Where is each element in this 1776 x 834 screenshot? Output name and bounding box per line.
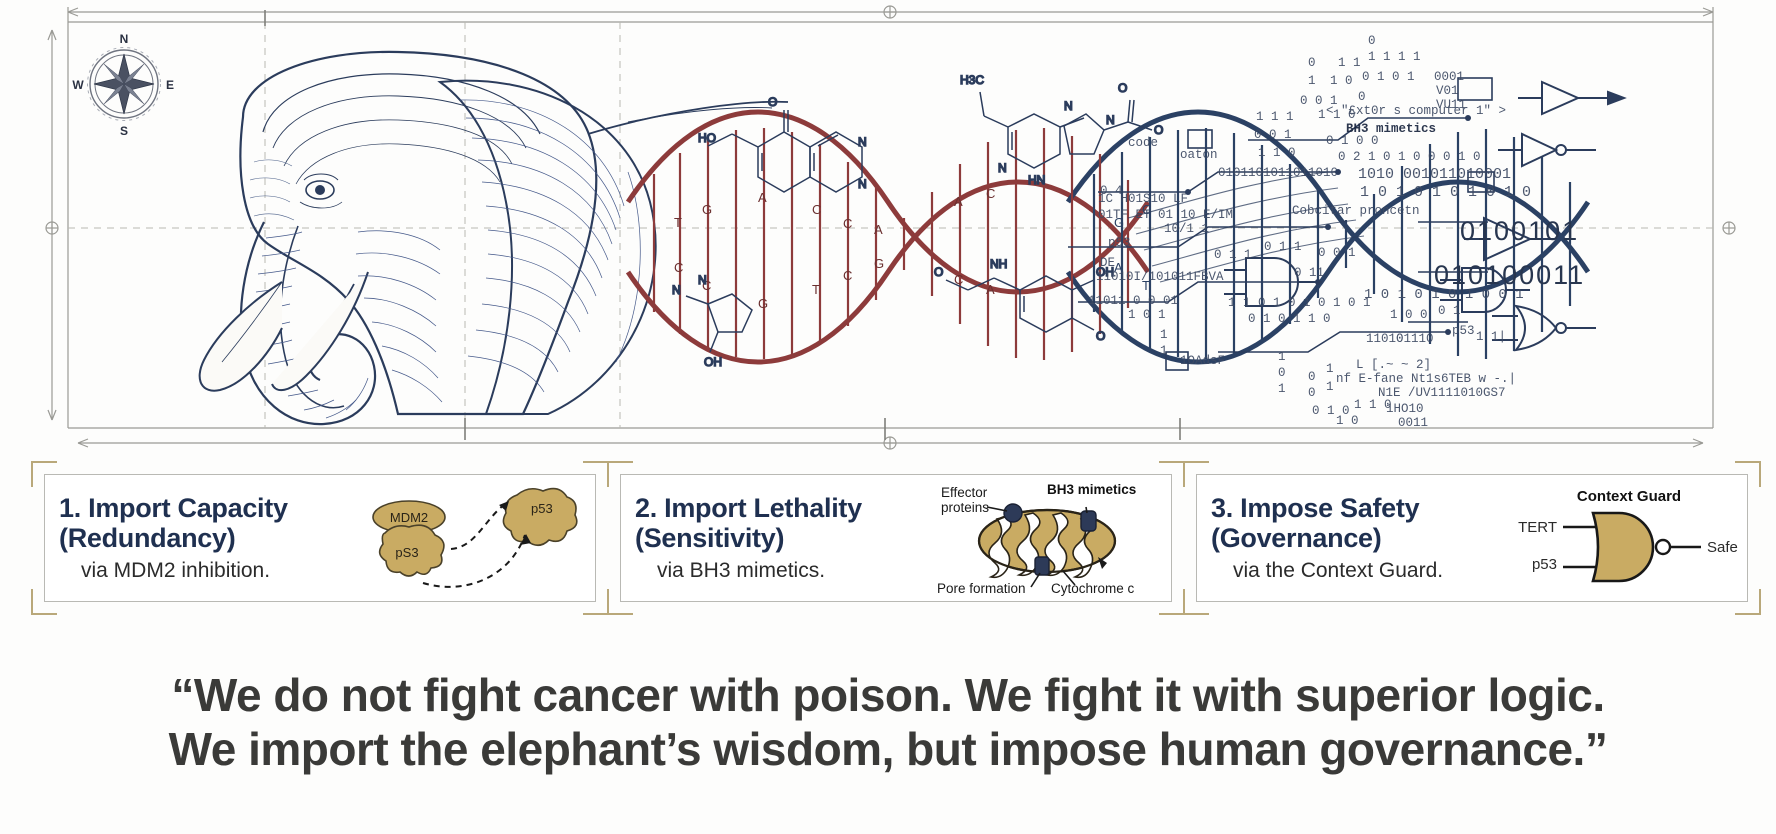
svg-text:O: O bbox=[1118, 81, 1127, 95]
svg-text:C: C bbox=[986, 186, 995, 201]
compass-east: E bbox=[166, 78, 174, 92]
svg-text:A: A bbox=[758, 190, 767, 205]
chemical-structure-center: H3C O O N N N HN bbox=[960, 73, 1163, 187]
svg-text:1010 001011010001: 1010 001011010001 bbox=[1358, 166, 1511, 183]
card-corner-tl bbox=[607, 461, 633, 487]
compass-rose: N S E W bbox=[72, 32, 174, 138]
svg-text:nf E-fane Nt1s6TEB w -.|: nf E-fane Nt1s6TEB w -.| bbox=[1336, 372, 1516, 386]
svg-text:0: 0 bbox=[1308, 56, 1316, 70]
logic-gate-nor bbox=[1492, 306, 1596, 350]
bh3-protein-block bbox=[1081, 511, 1096, 531]
svg-text:1: 1 bbox=[1308, 74, 1316, 88]
svg-text:O: O bbox=[768, 95, 777, 109]
svg-text:0011: 0011 bbox=[1398, 416, 1428, 428]
svg-text:0 1 0 0: 0 1 0 0 bbox=[1326, 134, 1379, 148]
svg-text:1: 1 bbox=[1326, 380, 1334, 394]
svg-text:G: G bbox=[758, 296, 768, 311]
svg-text:N: N bbox=[1106, 113, 1115, 127]
p53-label: p53 bbox=[531, 501, 553, 516]
svg-text:0 0 1: 0 0 1 bbox=[1318, 246, 1356, 260]
svg-text:0101101011011010: 0101101011011010 bbox=[1218, 166, 1338, 180]
bh3-mimetics-label: BH3 mimetics bbox=[1047, 482, 1136, 497]
svg-text:1 1 0: 1 1 0 bbox=[1258, 146, 1296, 160]
svg-text:L [.~ ~ 2]: L [.~ ~ 2] bbox=[1356, 358, 1431, 372]
card-3-text: 3. Impose Safety (Governance) via the Co… bbox=[1211, 493, 1511, 584]
logic-gate-not bbox=[1498, 134, 1596, 166]
nand-gate-shape bbox=[1563, 513, 1701, 581]
card-2-title: 2. Import Lethality (Sensitivity) bbox=[635, 493, 935, 553]
elephant-eye bbox=[300, 174, 342, 208]
svg-text:oaton: oaton bbox=[1180, 148, 1218, 162]
svg-text:0: 0 bbox=[1368, 34, 1376, 48]
svg-text:N: N bbox=[1064, 99, 1073, 113]
svg-text:A: A bbox=[954, 194, 963, 209]
svg-text:1: 1 bbox=[1160, 328, 1168, 342]
ps3-protein-blob: pS3 bbox=[380, 525, 444, 576]
card-2-figure: Effector proteins BH3 mimetics Pore form… bbox=[935, 479, 1165, 597]
effector-label-line1: Effector bbox=[941, 485, 988, 500]
card-1-text: 1. Import Capacity (Redundancy) via MDM2… bbox=[59, 493, 359, 584]
svg-text:0: 0 bbox=[1358, 90, 1366, 104]
pore-formation-label: Pore formation bbox=[937, 581, 1026, 596]
logic-gate-buffer-2 bbox=[1518, 82, 1624, 114]
svg-text:HN: HN bbox=[1028, 173, 1045, 187]
svg-text:01TF ET 01 10 E/IM: 01TF ET 01 10 E/IM bbox=[1098, 208, 1233, 222]
svg-text:N: N bbox=[858, 177, 867, 191]
blueprint-artwork: N S E W bbox=[68, 22, 1713, 428]
card-import-capacity[interactable]: 1. Import Capacity (Redundancy) via MDM2… bbox=[44, 474, 596, 602]
svg-text:1: 1 bbox=[1160, 344, 1168, 358]
svg-text:1: 1 bbox=[1326, 362, 1334, 376]
svg-text:DE: DE bbox=[1100, 256, 1115, 270]
svg-text:0 1 1: 0 1 1 bbox=[1214, 248, 1252, 262]
card-3-subtitle: via the Context Guard. bbox=[1211, 558, 1511, 583]
svg-text:N: N bbox=[698, 273, 707, 287]
gate-input-tert-label: TERT bbox=[1518, 519, 1557, 536]
svg-text:0 11: 0 11 bbox=[1294, 266, 1324, 280]
svg-text:1 1: 1 1 bbox=[1338, 56, 1361, 70]
svg-text:1OAdsF: 1OAdsF bbox=[1180, 354, 1225, 368]
svg-text:Cobcitar proncetn: Cobcitar proncetn bbox=[1292, 204, 1420, 218]
svg-text:0 1 0 1 1 0: 0 1 0 1 1 0 bbox=[1248, 312, 1331, 326]
svg-text:1 0 0: 1 0 0 bbox=[1390, 308, 1428, 322]
gate-input-p53-label: p53 bbox=[1532, 556, 1557, 573]
svg-text:C: C bbox=[674, 260, 683, 275]
quote-line-2: We import the elephant’s wisdom, but imp… bbox=[169, 723, 1608, 777]
chemical-structure-left: O HO N N bbox=[698, 95, 867, 192]
svg-text:G: G bbox=[874, 256, 884, 271]
svg-text:0 1 1: 0 1 1 bbox=[1264, 240, 1302, 254]
card-1-subtitle: via MDM2 inhibition. bbox=[59, 558, 359, 583]
svg-text:0 1: 0 1 bbox=[1438, 304, 1461, 318]
svg-text:V01: V01 bbox=[1436, 84, 1459, 98]
svg-text:A: A bbox=[986, 282, 995, 297]
card-1-figure: p53 MDM2 pS3 bbox=[359, 479, 589, 597]
svg-text:1 1 1 1: 1 1 1 1 bbox=[1368, 50, 1421, 64]
svg-text:0001: 0001 bbox=[1434, 70, 1464, 84]
quote-line-1: “We do not fight cancer with poison. We … bbox=[171, 669, 1604, 723]
svg-text:N1E /UV1111010GS7: N1E /UV1111010GS7 bbox=[1378, 386, 1506, 400]
svg-text:1 0 1: 1 0 1 bbox=[1128, 308, 1166, 322]
card-2-subtitle: via BH3 mimetics. bbox=[635, 558, 935, 583]
svg-text:code: code bbox=[1128, 136, 1158, 150]
compass-north: N bbox=[120, 32, 129, 46]
ps3-label: pS3 bbox=[395, 545, 418, 560]
concept-cards-row: 1. Import Capacity (Redundancy) via MDM2… bbox=[0, 462, 1776, 612]
svg-text:N: N bbox=[672, 283, 681, 297]
compass-west: W bbox=[72, 78, 84, 92]
compass-south: S bbox=[120, 124, 128, 138]
card-impose-safety[interactable]: 3. Impose Safety (Governance) via the Co… bbox=[1196, 474, 1748, 602]
card-2-text: 2. Import Lethality (Sensitivity) via BH… bbox=[635, 493, 935, 584]
chemical-structure-right: O OH O NH N N OH bbox=[672, 257, 1114, 369]
effector-label-line2: proteins bbox=[941, 500, 989, 515]
svg-text:N: N bbox=[998, 161, 1007, 175]
svg-text:T: T bbox=[812, 282, 820, 297]
svg-text:H3C: H3C bbox=[960, 73, 984, 87]
nand-inversion-bubble bbox=[1656, 540, 1670, 554]
svg-text:0 2 1 0 1 0 0 0 1 0: 0 2 1 0 1 0 0 0 1 0 bbox=[1338, 150, 1481, 164]
svg-text:p53: p53 bbox=[1108, 236, 1131, 250]
gate-output-safe-label: Safe bbox=[1707, 539, 1738, 556]
svg-text:0: 0 bbox=[1308, 386, 1316, 400]
svg-text:C: C bbox=[843, 216, 852, 231]
card-corner-tl bbox=[1183, 461, 1209, 487]
svg-text:10/1 1: 10/1 1 bbox=[1164, 222, 1209, 236]
svg-text:< "£xt0r s computer 1" >: < "£xt0r s computer 1" > bbox=[1326, 104, 1506, 118]
svg-text:0: 0 bbox=[1396, 332, 1404, 346]
context-guard-title: Context Guard bbox=[1577, 488, 1681, 505]
svg-text:0: 0 bbox=[1308, 370, 1316, 384]
svg-text:C: C bbox=[812, 202, 821, 217]
cytochrome-c-label: Cytochrome c bbox=[1051, 581, 1135, 596]
binary-readout-2: 010100011 bbox=[1434, 260, 1585, 290]
pore-protein-block bbox=[1035, 557, 1049, 575]
card-3-figure: Context Guard TERT p53 Safe bbox=[1511, 479, 1741, 597]
effector-protein-dot bbox=[1004, 504, 1022, 522]
svg-text:1: 1 bbox=[1278, 382, 1286, 396]
svg-text:1 1 0 1 0 1 0 1 0 1: 1 1 0 1 0 1 0 1 0 1 bbox=[1228, 296, 1371, 310]
svg-text:p53: p53 bbox=[1452, 324, 1475, 338]
svg-text:1 0 1 0 1 0 1 0 1 0: 1 0 1 0 1 0 1 0 1 0 bbox=[1360, 184, 1531, 201]
svg-text:BH3 mimetics: BH3 mimetics bbox=[1346, 122, 1436, 136]
svg-text:A: A bbox=[874, 222, 883, 237]
svg-text:1C H01S10 LF: 1C H01S10 LF bbox=[1098, 192, 1188, 206]
svg-text:0 1 0 1: 0 1 0 1 bbox=[1362, 70, 1415, 84]
svg-text:0: 0 bbox=[1278, 366, 1286, 380]
svg-text:O: O bbox=[934, 265, 943, 279]
svg-text:1 1 1: 1 1 1 bbox=[1256, 110, 1294, 124]
svg-text:1HO10: 1HO10 bbox=[1386, 402, 1424, 416]
card-import-lethality[interactable]: 2. Import Lethality (Sensitivity) via BH… bbox=[620, 474, 1172, 602]
svg-text:O: O bbox=[1154, 123, 1163, 137]
svg-text:11010I/101011FBVA: 11010I/101011FBVA bbox=[1096, 270, 1224, 284]
binary-readout-1: 0100101 bbox=[1460, 216, 1579, 246]
svg-text:1 1|: 1 1| bbox=[1476, 330, 1506, 344]
svg-text:0 0 1: 0 0 1 bbox=[1254, 128, 1292, 142]
svg-text:OH: OH bbox=[704, 355, 722, 369]
svg-text:G: G bbox=[702, 202, 712, 217]
svg-text:1 1 0: 1 1 0 bbox=[1354, 398, 1392, 412]
svg-text:O: O bbox=[1096, 329, 1105, 343]
svg-text:1 0: 1 0 bbox=[1330, 74, 1353, 88]
mdm2-label: MDM2 bbox=[390, 510, 428, 525]
svg-text:N: N bbox=[858, 135, 867, 149]
elephant-illustration bbox=[200, 52, 788, 424]
svg-text:1 0: 1 0 bbox=[1336, 414, 1359, 428]
card-corner-tl bbox=[31, 461, 57, 487]
p53-protein-blob: p53 bbox=[503, 489, 576, 546]
card-3-title: 3. Impose Safety (Governance) bbox=[1211, 493, 1511, 553]
svg-text:NH: NH bbox=[990, 257, 1007, 271]
poster-root: N S E W bbox=[0, 0, 1776, 834]
svg-text:11011 0 0 01: 11011 0 0 01 bbox=[1088, 294, 1178, 308]
card-1-title: 1. Import Capacity (Redundancy) bbox=[59, 493, 359, 553]
blueprint-panel: N S E W bbox=[0, 0, 1776, 462]
svg-text:C: C bbox=[843, 268, 852, 283]
svg-text:1: 1 bbox=[1278, 350, 1286, 364]
svg-text:T: T bbox=[674, 215, 682, 230]
closing-quote: “We do not fight cancer with poison. We … bbox=[0, 612, 1776, 834]
svg-text:HO: HO bbox=[698, 131, 716, 145]
